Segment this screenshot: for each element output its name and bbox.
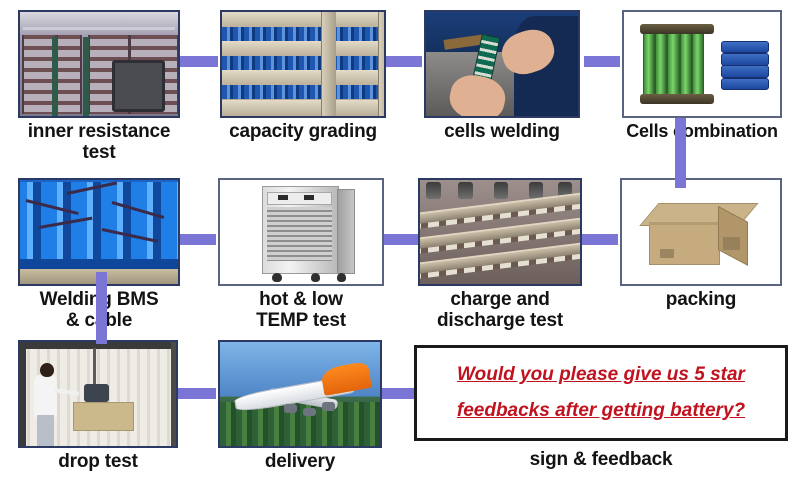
thumbnail-drop-test [18,340,178,448]
thumbnail-cells-welding [424,10,580,118]
charge-discharge-racks-icon [420,180,580,284]
caption-line-1: capacity grading [220,122,386,143]
thumbnail-capacity-grading [220,10,386,118]
green-blue-cell-packs-icon [624,12,780,116]
thumbnail-cells-combination [622,10,782,118]
step-packing: packing [620,178,782,311]
warehouse-racks-icon [20,12,178,116]
caption-line-2: discharge test [418,311,582,332]
caption-packing: packing [620,290,782,311]
thumbnail-hot-low-temp-test [218,178,384,286]
carton-box-icon [622,180,780,284]
caption-hot-low-temp-test: hot & low TEMP test [218,290,384,331]
step-delivery: delivery [218,340,382,473]
blue-cell-racks-icon [222,12,384,116]
thumbnail-inner-resistance-test [18,10,180,118]
thumbnail-welding-bms-cable [18,178,180,286]
feedback-request-box: Would you please give us 5 star feedback… [414,345,788,441]
connector-capacity-to-welding [386,56,422,67]
caption-line-2: test [18,143,180,164]
worker-hands-welding-icon [426,12,578,116]
step-cells-combination: Cells combination [622,10,782,141]
caption-cells-combination: Cells combination [622,122,782,141]
connector-combination-to-bms [675,118,686,188]
blue-prismatic-batteries-icon [20,180,178,284]
feedback-line-2: feedbacks after getting battery? [431,393,771,429]
thumbnail-packing [620,178,782,286]
connector-bms-to-temp [180,234,216,245]
connector-bms-to-drop [96,272,107,344]
caption-charge-discharge-test: charge and discharge test [418,290,582,331]
step-cells-welding: cells welding [424,10,580,143]
caption-delivery: delivery [218,452,382,473]
caption-line-1: delivery [218,452,382,473]
connector-inner-resistance-to-capacity [180,56,218,67]
caption-line-1: sign & feedback [414,450,788,471]
step-hot-low-temp-test: hot & low TEMP test [218,178,384,331]
caption-line-1: Cells combination [622,122,782,141]
thumbnail-charge-discharge-test [418,178,582,286]
caption-line-1: drop test [18,452,178,473]
caption-line-1: inner resistance [18,122,180,143]
thumbnail-delivery [218,340,382,448]
caption-line-1: charge and [418,290,582,311]
feedback-line-1: Would you please give us 5 star [431,357,771,393]
step-capacity-grading: capacity grading [220,10,386,143]
step-inner-resistance-test: inner resistance test [18,10,180,163]
connector-charge-to-packing [582,234,618,245]
caption-line-1: hot & low [218,290,384,311]
caption-cells-welding: cells welding [424,122,580,143]
process-flowchart: inner resistance test capacity grading [0,0,800,481]
caption-sign-feedback: sign & feedback [414,450,788,471]
caption-capacity-grading: capacity grading [220,122,386,143]
caption-line-1: cells welding [424,122,580,143]
temperature-chamber-icon [220,180,382,284]
step-drop-test: drop test [18,340,178,473]
connector-temp-to-charge [384,234,418,245]
step-charge-discharge-test: charge and discharge test [418,178,582,331]
cargo-airplane-icon [220,342,380,446]
caption-inner-resistance-test: inner resistance test [18,122,180,163]
caption-drop-test: drop test [18,452,178,473]
connector-drop-to-delivery [178,388,216,399]
connector-welding-to-combination [584,56,620,67]
caption-line-1: packing [620,290,782,311]
connector-delivery-to-feedback [382,388,418,399]
caption-line-2: TEMP test [218,311,384,332]
drop-test-rig-icon [20,342,176,446]
